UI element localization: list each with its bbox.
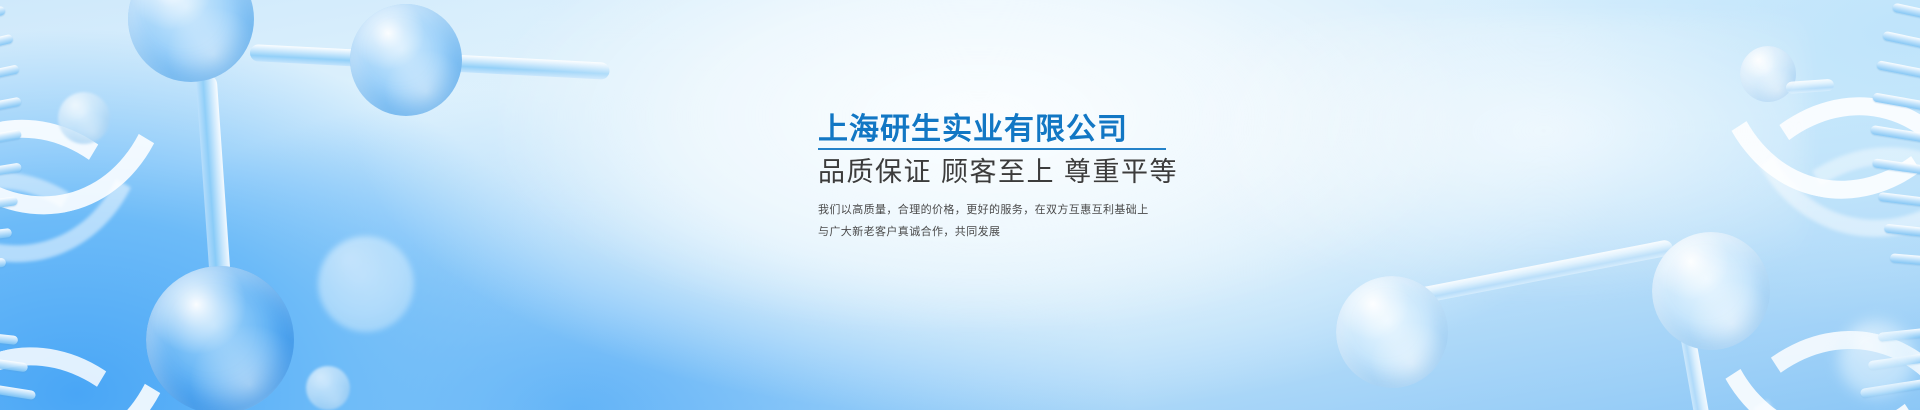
dna-helix-icon-left <box>0 0 168 410</box>
right-light-wash <box>1152 16 1805 303</box>
company-slogan: 品质保证 顾客至上 尊重平等 <box>818 156 1238 188</box>
company-hero-banner: 上海研生实业有限公司 品质保证 顾客至上 尊重平等 我们以高质量，合理的价格，更… <box>0 0 1920 410</box>
company-description-line-2: 与广大新老客户真诚合作，共同发展 <box>818 221 1238 243</box>
company-title-underline <box>818 148 1166 150</box>
company-description-line-1: 我们以高质量，合理的价格，更好的服务，在双方互惠互利基础上 <box>818 199 1238 221</box>
banner-text-block: 上海研生实业有限公司 品质保证 顾客至上 尊重平等 我们以高质量，合理的价格，更… <box>818 112 1238 243</box>
company-title: 上海研生实业有限公司 <box>818 112 1238 147</box>
